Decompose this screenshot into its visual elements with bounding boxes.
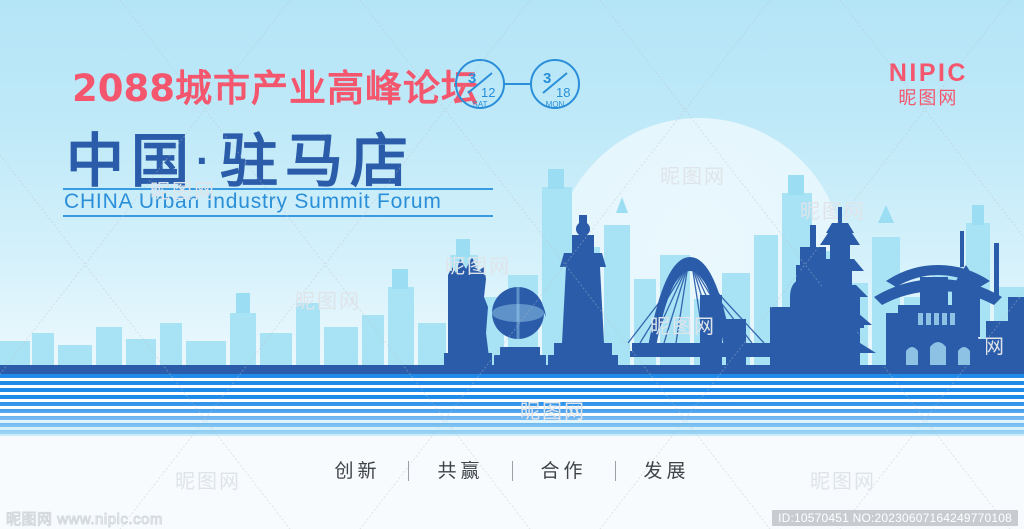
slogan-separator-0: [408, 461, 409, 481]
footer-site-cn: 昵图网: [6, 511, 53, 528]
pagoda-and-gate-layer: [0, 147, 1024, 377]
slogan-separator-2: [615, 461, 616, 481]
slogan-item-1: 共赢: [435, 456, 485, 483]
poster-canvas: 2088城市产业高峰论坛 中国·驻马店 CHINA Urban Industry…: [0, 0, 1024, 529]
slogan-item-2: 合作: [539, 456, 589, 483]
start-day: 12: [481, 85, 495, 100]
end-day: 18: [556, 85, 570, 100]
event-year: 2088: [72, 67, 175, 110]
start-month: 3: [468, 70, 476, 87]
footer-bar: 昵图网 www.nipic.com ID:10570451 NO:2023060…: [0, 505, 1024, 529]
start-weekday: SAT: [473, 100, 488, 109]
water-stripe-band: [0, 374, 1024, 442]
footer-site-url: www.nipic.com: [57, 511, 163, 528]
slogan-item-0: 创新: [332, 456, 382, 483]
nipic-logo-cn: 昵图网: [889, 86, 968, 110]
footer-site: 昵图网 www.nipic.com: [6, 508, 163, 529]
event-title-line: 2088城市产业高峰论坛: [72, 58, 479, 112]
event-title-cn: 城市产业高峰论坛: [175, 68, 479, 109]
end-weekday: MON: [546, 100, 565, 109]
nipic-logo: NIPIC 昵图网: [889, 60, 968, 111]
traditional-gate-shape: [874, 265, 1002, 365]
onion-dome-tower-shape: [784, 271, 816, 365]
slogan-item-3: 发展: [642, 456, 692, 483]
footer-image-id: ID:10570451 NO:20230607164249770108: [772, 510, 1018, 526]
slogan-separator-1: [512, 461, 513, 481]
nipic-logo-en: NIPIC: [889, 60, 968, 86]
end-month: 3: [543, 70, 551, 87]
slogan-row: 创新 共赢 合作 发展: [0, 456, 1024, 483]
event-date-badges: 3 12 SAT 3 18 MON: [455, 57, 580, 112]
